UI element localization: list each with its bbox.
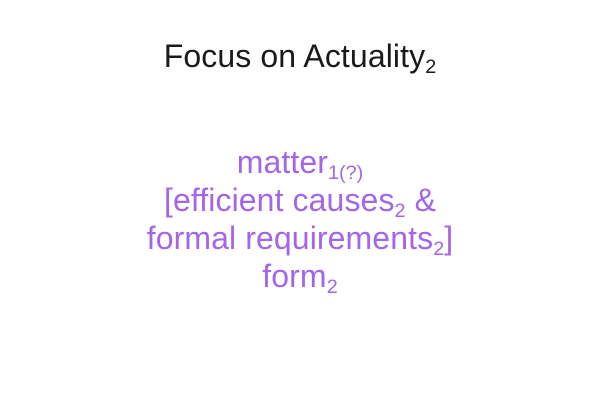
body-line-matter-subscript: 1(?) [328, 162, 363, 184]
body-line-formal-requirements: formal requirements2] [0, 219, 600, 257]
page-title: Focus on Actuality2 [0, 35, 600, 77]
body-line-form-subscript: 2 [327, 276, 338, 298]
body-line-efficient-causes-text: [efficient causes [164, 182, 395, 218]
body-line-efficient-causes: [efficient causes2 & [0, 181, 600, 219]
body-line-matter: matter1(?) [0, 143, 600, 181]
body-line-matter-text: matter [237, 144, 328, 180]
body-line-efficient-causes-subscript: 2 [395, 200, 406, 222]
body-line-formal-requirements-subscript: 2 [433, 238, 444, 260]
body-line-form-text: form [262, 258, 326, 294]
body-text-block: matter1(?) [efficient causes2 & formal r… [0, 143, 600, 295]
page-title-subscript: 2 [425, 56, 436, 78]
slide-canvas: Focus on Actuality2 matter1(?) [efficien… [0, 0, 600, 400]
page-title-text: Focus on Actuality [164, 38, 426, 74]
body-line-form: form2 [0, 257, 600, 295]
body-line-efficient-causes-suffix: & [406, 182, 436, 218]
body-line-formal-requirements-suffix: ] [444, 220, 453, 256]
body-line-formal-requirements-text: formal requirements [147, 220, 433, 256]
